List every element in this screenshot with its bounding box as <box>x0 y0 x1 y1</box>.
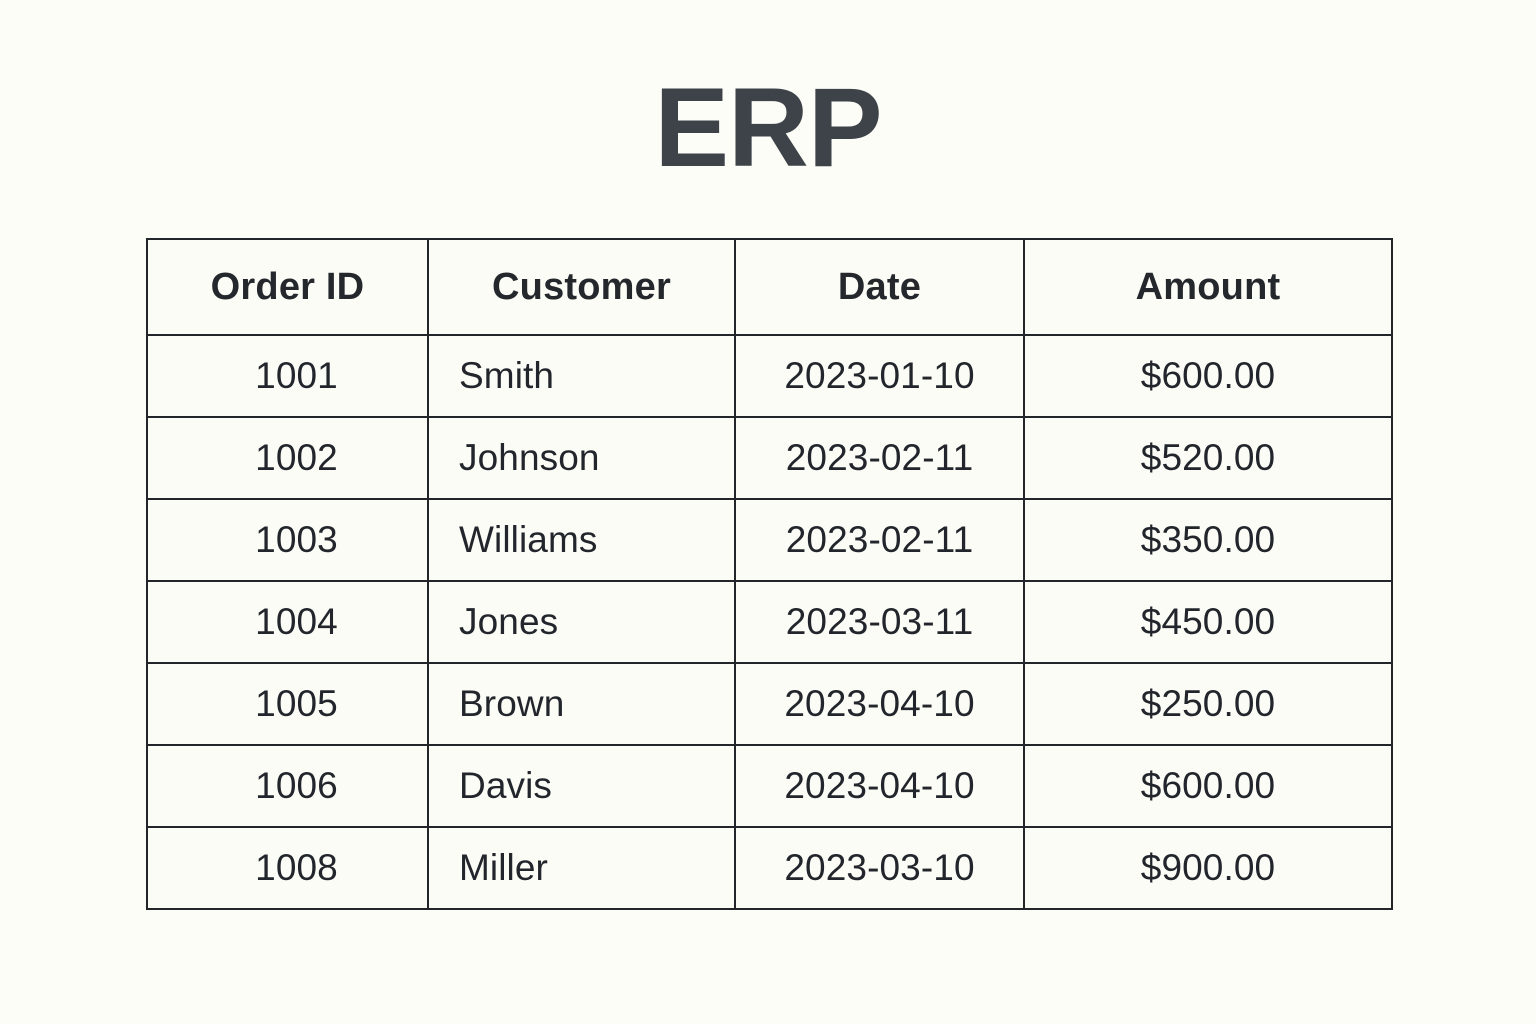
table-cell-date: 2023-03-11 <box>735 581 1024 663</box>
page-title: ERP <box>0 62 1536 194</box>
table-cell-amount-value: $450.00 <box>1025 583 1391 661</box>
table-cell-customer-value: Jones <box>429 583 734 661</box>
table-cell-amount: $600.00 <box>1024 745 1392 827</box>
table-cell-customer: Miller <box>428 827 735 909</box>
table-cell-customer: Brown <box>428 663 735 745</box>
table-cell-order_id-value: 1008 <box>148 829 427 907</box>
table-cell-date-value: 2023-02-11 <box>736 501 1023 579</box>
table-cell-date: 2023-02-11 <box>735 417 1024 499</box>
table-cell-date-value: 2023-04-10 <box>736 747 1023 825</box>
table-header: Order ID Customer Date Amount <box>147 239 1392 335</box>
column-header-amount-label: Amount <box>1025 241 1391 333</box>
table-row[interactable]: 1004Jones2023-03-11$450.00 <box>147 581 1392 663</box>
table-cell-date: 2023-03-10 <box>735 827 1024 909</box>
table-cell-customer-value: Miller <box>429 829 734 907</box>
table-cell-order_id: 1004 <box>147 581 428 663</box>
table-cell-date: 2023-01-10 <box>735 335 1024 417</box>
table-cell-order_id-value: 1001 <box>148 337 427 415</box>
table-cell-order_id-value: 1002 <box>148 419 427 497</box>
table-cell-date-value: 2023-02-11 <box>736 419 1023 497</box>
table-cell-order_id: 1006 <box>147 745 428 827</box>
table-cell-date: 2023-04-10 <box>735 745 1024 827</box>
table-cell-order_id: 1005 <box>147 663 428 745</box>
column-header-amount[interactable]: Amount <box>1024 239 1392 335</box>
column-header-date-label: Date <box>736 241 1023 333</box>
table-cell-customer-value: Davis <box>429 747 734 825</box>
table-cell-customer: Jones <box>428 581 735 663</box>
table-cell-date-value: 2023-04-10 <box>736 665 1023 743</box>
column-header-customer-label: Customer <box>429 241 734 333</box>
table-cell-date-value: 2023-03-10 <box>736 829 1023 907</box>
table-row[interactable]: 1005Brown2023-04-10$250.00 <box>147 663 1392 745</box>
column-header-customer[interactable]: Customer <box>428 239 735 335</box>
table-cell-date: 2023-04-10 <box>735 663 1024 745</box>
column-header-date[interactable]: Date <box>735 239 1024 335</box>
table-cell-order_id-value: 1006 <box>148 747 427 825</box>
table-cell-date-value: 2023-03-11 <box>736 583 1023 661</box>
column-header-order-id-label: Order ID <box>148 241 427 333</box>
table-cell-amount: $350.00 <box>1024 499 1392 581</box>
table-cell-customer: Davis <box>428 745 735 827</box>
table-cell-amount: $450.00 <box>1024 581 1392 663</box>
table-cell-amount: $250.00 <box>1024 663 1392 745</box>
orders-table-container: Order ID Customer Date Amount 1001Smith2… <box>146 238 1391 910</box>
table-cell-amount: $520.00 <box>1024 417 1392 499</box>
table-cell-amount: $900.00 <box>1024 827 1392 909</box>
table-cell-order_id-value: 1005 <box>148 665 427 743</box>
table-cell-order_id: 1008 <box>147 827 428 909</box>
table-cell-customer-value: Smith <box>429 337 734 415</box>
table-cell-date: 2023-02-11 <box>735 499 1024 581</box>
erp-page: ERP Order ID Customer Date <box>0 0 1536 1024</box>
table-cell-amount-value: $900.00 <box>1025 829 1391 907</box>
table-body: 1001Smith2023-01-10$600.001002Johnson202… <box>147 335 1392 909</box>
orders-table: Order ID Customer Date Amount 1001Smith2… <box>146 238 1393 910</box>
table-cell-amount-value: $520.00 <box>1025 419 1391 497</box>
table-cell-order_id-value: 1004 <box>148 583 427 661</box>
table-row[interactable]: 1006Davis2023-04-10$600.00 <box>147 745 1392 827</box>
table-cell-amount-value: $350.00 <box>1025 501 1391 579</box>
table-cell-order_id: 1003 <box>147 499 428 581</box>
table-cell-order_id-value: 1003 <box>148 501 427 579</box>
table-cell-amount-value: $600.00 <box>1025 337 1391 415</box>
table-cell-amount-value: $600.00 <box>1025 747 1391 825</box>
table-cell-customer: Williams <box>428 499 735 581</box>
table-cell-amount-value: $250.00 <box>1025 665 1391 743</box>
table-cell-customer-value: Johnson <box>429 419 734 497</box>
table-cell-order_id: 1001 <box>147 335 428 417</box>
table-row[interactable]: 1002Johnson2023-02-11$520.00 <box>147 417 1392 499</box>
column-header-order-id[interactable]: Order ID <box>147 239 428 335</box>
table-cell-date-value: 2023-01-10 <box>736 337 1023 415</box>
table-cell-customer: Smith <box>428 335 735 417</box>
table-cell-customer-value: Brown <box>429 665 734 743</box>
table-row[interactable]: 1008Miller2023-03-10$900.00 <box>147 827 1392 909</box>
table-row[interactable]: 1003Williams2023-02-11$350.00 <box>147 499 1392 581</box>
table-cell-customer-value: Williams <box>429 501 734 579</box>
table-header-row: Order ID Customer Date Amount <box>147 239 1392 335</box>
table-cell-amount: $600.00 <box>1024 335 1392 417</box>
table-row[interactable]: 1001Smith2023-01-10$600.00 <box>147 335 1392 417</box>
table-cell-customer: Johnson <box>428 417 735 499</box>
table-cell-order_id: 1002 <box>147 417 428 499</box>
